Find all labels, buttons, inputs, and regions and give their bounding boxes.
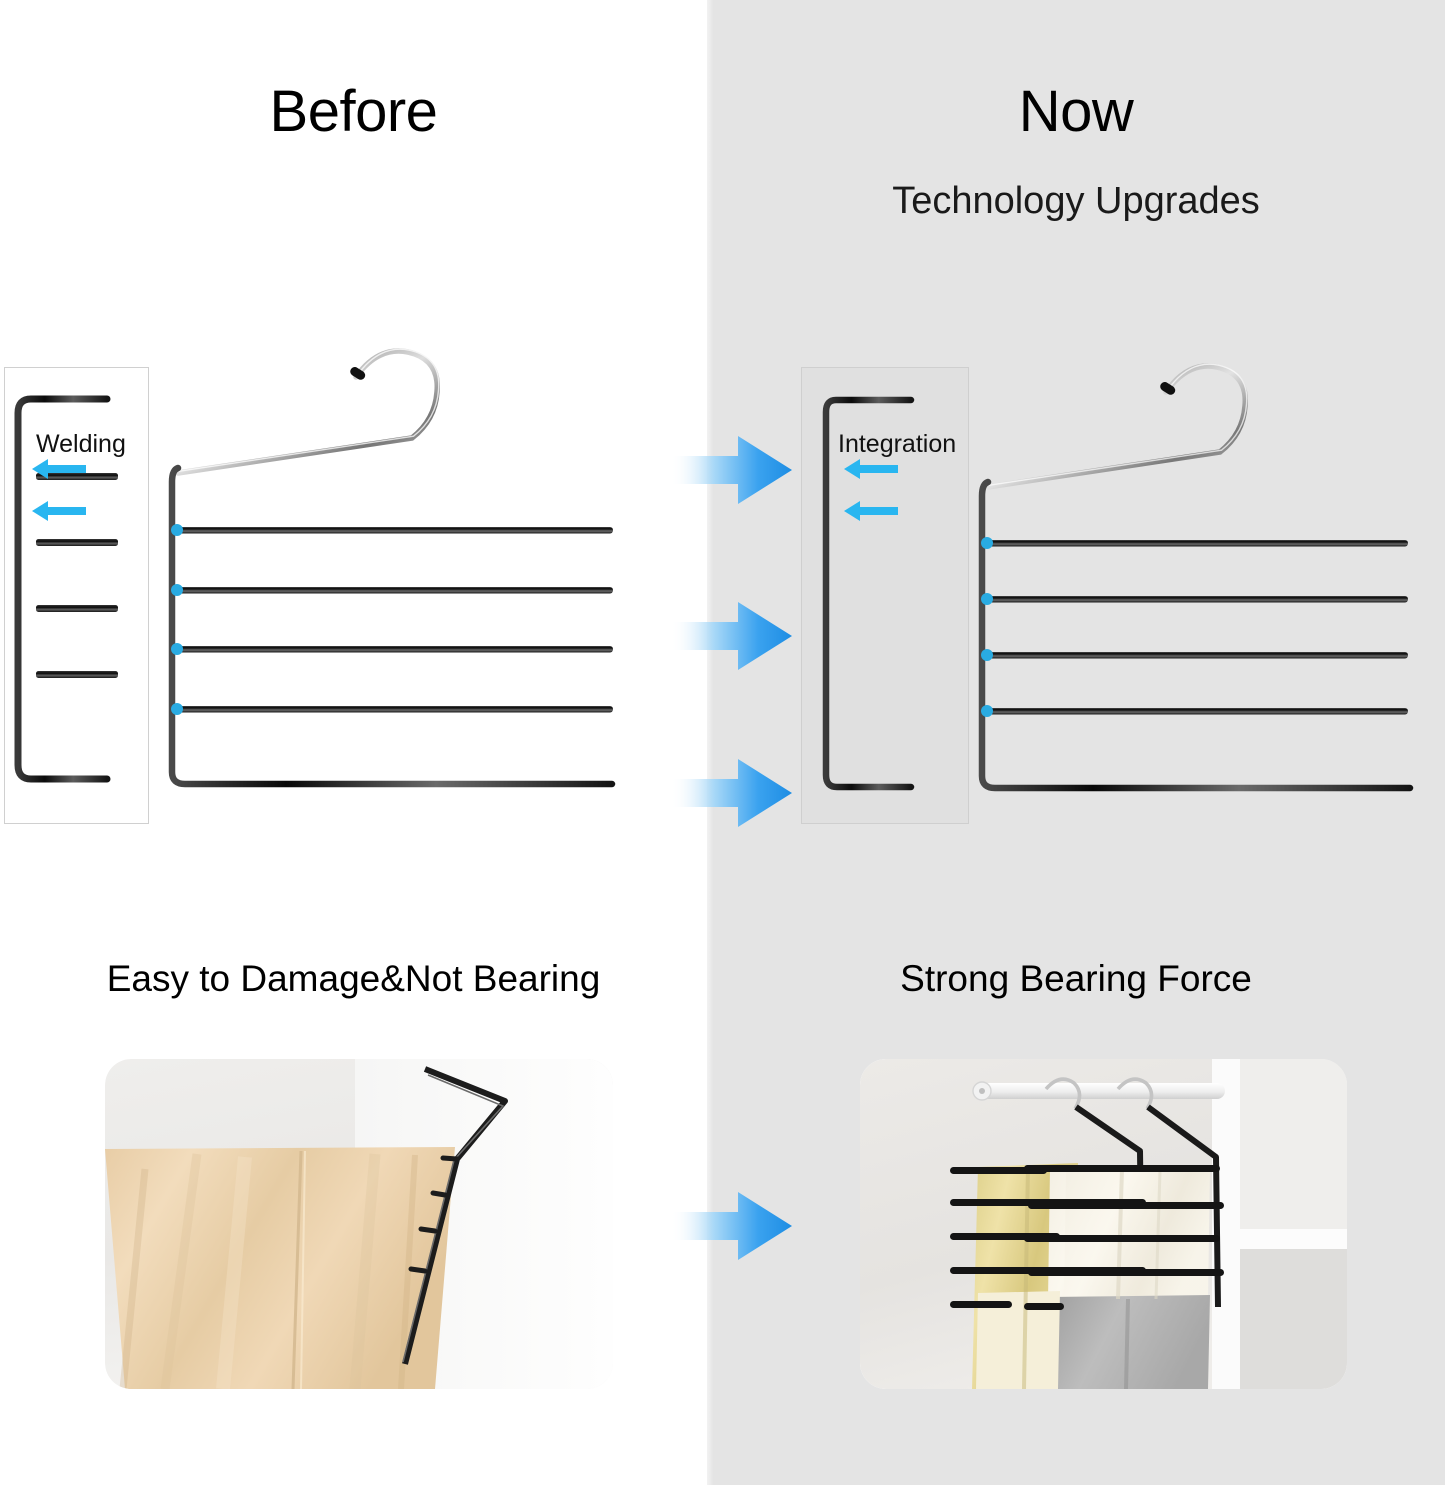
arrow-right-icon [672, 757, 794, 829]
caption-easy-to-damage: Easy to Damage&Not Bearing [0, 958, 707, 1000]
hanger-now-illustration [970, 356, 1425, 806]
joint-dot [981, 649, 993, 661]
joint-dot [171, 643, 183, 655]
joint-dot [981, 593, 993, 605]
arrow-left-icon [30, 456, 88, 482]
subheading-technology-upgrades: Technology Upgrades [707, 180, 1445, 223]
arrow-left-icon [842, 498, 900, 524]
joint-dot [981, 537, 993, 549]
photo-damaged-hanger [105, 1059, 613, 1389]
arrow-right-icon [672, 434, 794, 506]
joint-dot [171, 524, 183, 536]
arrow-left-icon [30, 498, 88, 524]
inset-label-welding: Welding [36, 430, 126, 459]
inset-label-integration: Integration [838, 430, 956, 459]
heading-now: Now [707, 78, 1445, 145]
joint-dot [171, 703, 183, 715]
arrow-right-icon [672, 1190, 794, 1262]
caption-strong-bearing: Strong Bearing Force [707, 958, 1445, 1000]
arrow-right-icon [672, 600, 794, 672]
comparison-infographic: Before Now Technology Upgrades Wel [0, 0, 1445, 1485]
joint-dot [981, 705, 993, 717]
heading-before: Before [0, 78, 707, 145]
hanger-before-illustration [160, 340, 660, 810]
joint-dot [171, 584, 183, 596]
photo-closet-hangers [860, 1059, 1347, 1389]
arrow-left-icon [842, 456, 900, 482]
